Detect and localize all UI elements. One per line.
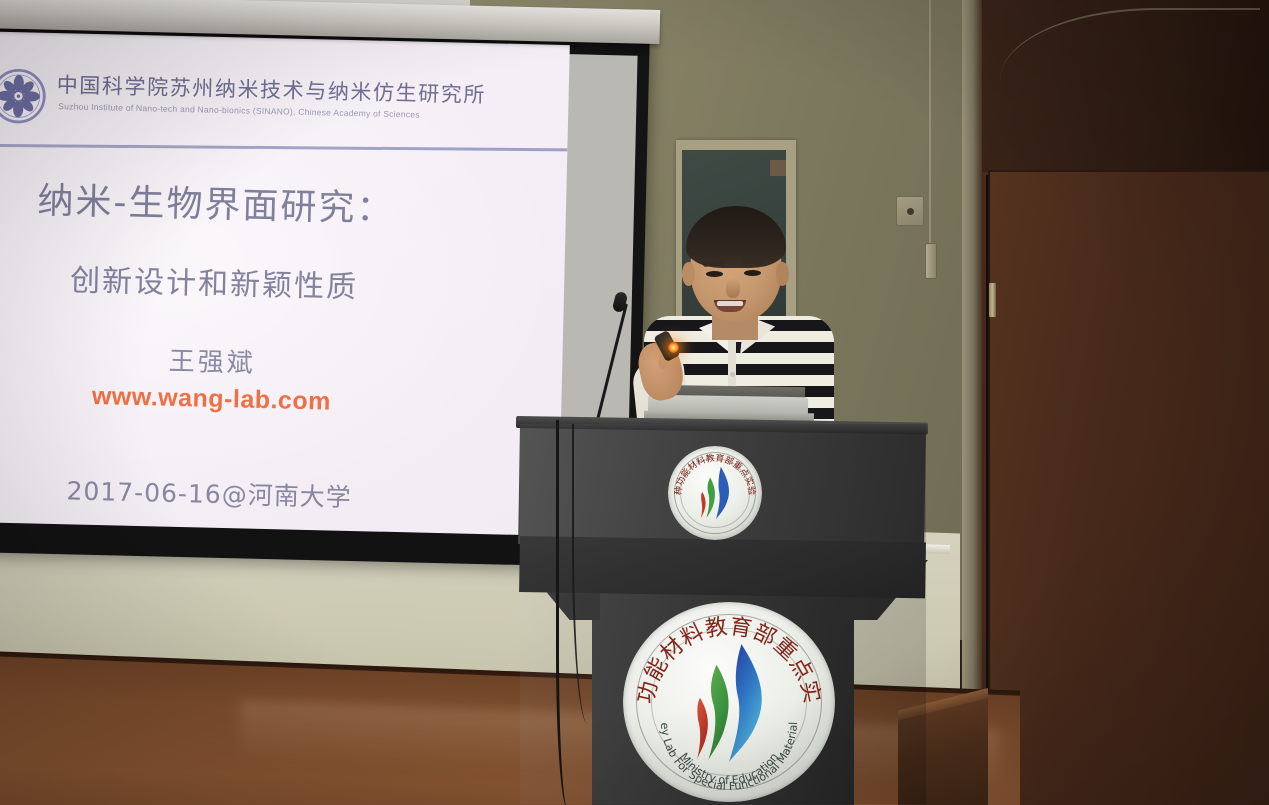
lecture-photo-scene: 中国科学院苏州纳米技术与纳米仿生研究所 Suzhou Institute of … [0,0,1269,805]
speaker-ear-right [776,262,789,286]
speaker-ear-left [682,262,695,286]
door-hinge [989,283,996,317]
slide-subtitle: 创新设计和新颖性质 [0,253,465,309]
door-jamb [962,0,982,805]
speaker-eye-right [744,270,761,276]
sinano-institute-logo [0,68,47,125]
key-lab-emblem-small: 特种功能材料教育部重点实验室 [668,446,762,540]
speaker-nose [726,278,740,298]
speaker-shirt-button [730,372,735,377]
svg-text:特种功能材料教育部重点实验室: 特种功能材料教育部重点实验室 [668,446,758,496]
wall-outlet-socket [907,208,914,215]
slide-title: 纳米-生物界面研究： [0,179,466,233]
speaker-shirt-placket [728,336,736,392]
chalkboard-corner-bracket [770,160,786,176]
slide-url: www.wang-lab.com [0,379,462,420]
slide-date-location: 2017-06-16@河南大学 [0,469,460,517]
hanging-cable [929,0,931,245]
door-transom [982,0,1269,172]
laser-pointer-led [668,342,679,353]
projected-slide: 中国科学院苏州纳米技术与纳米仿生研究所 Suzhou Institute of … [0,31,570,550]
key-lab-emblem-large: 特种功能材料教育部重点实验室 Key Lab For Special Funct… [623,602,835,802]
slide-author: 王强斌 [0,336,463,385]
door-panel[interactable] [988,170,1269,805]
cable-connector-box [925,243,937,279]
slide-header: 中国科学院苏州纳米技术与纳米仿生研究所 Suzhou Institute of … [0,61,543,146]
speaker-eye-left [706,271,723,277]
speaker-teeth [717,301,743,306]
svg-text:特种功能材料教育部重点实验室: 特种功能材料教育部重点实验室 [623,602,824,706]
